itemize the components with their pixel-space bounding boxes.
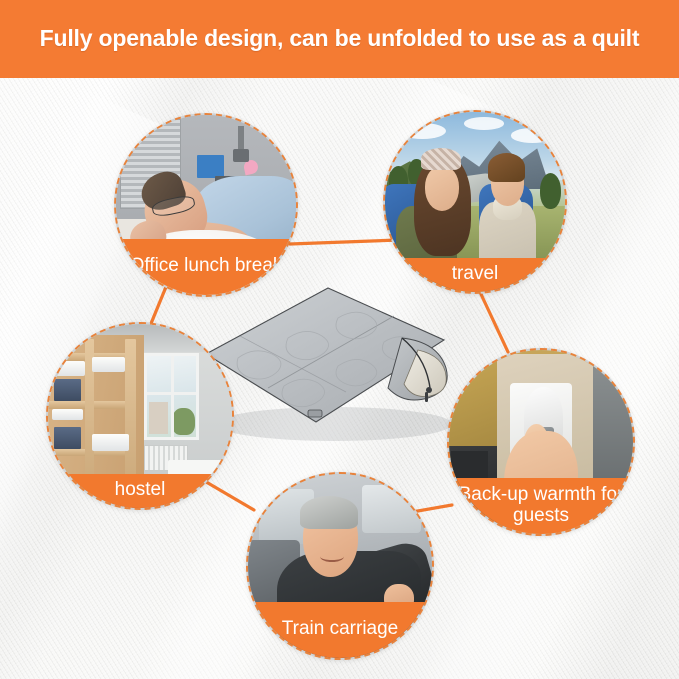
circle-label-travel: travel [385, 258, 565, 292]
circle-label-backup-text: Back-up warmth for guests [449, 484, 633, 527]
circle-label-train: Train carriage [248, 602, 432, 658]
circle-label-hostel: hostel [48, 474, 232, 508]
sleeping-bag-product-image [196, 276, 470, 448]
circle-label-hostel-text: hostel [115, 479, 166, 500]
circle-label-office-text: Office lunch break [130, 255, 283, 276]
infographic-page: Fully openable design, can be unfolded t… [0, 0, 679, 679]
photo-circle-travel[interactable]: travel [383, 110, 567, 294]
photo-circle-backup-warmth[interactable]: Back-up warmth for guests [447, 348, 635, 536]
photo-circle-hostel[interactable]: hostel [46, 322, 234, 510]
corner-tab [308, 410, 322, 417]
circle-label-office: Office lunch break [116, 239, 296, 295]
page-title: Fully openable design, can be unfolded t… [14, 25, 666, 52]
circle-label-backup: Back-up warmth for guests [449, 478, 633, 534]
circle-label-travel-text: travel [452, 263, 498, 284]
photo-circle-train-carriage[interactable]: Train carriage [246, 472, 434, 660]
zipper-tab [425, 392, 428, 402]
product-shadow [216, 407, 452, 441]
circle-label-train-text: Train carriage [282, 618, 399, 639]
photo-circle-office-lunch-break[interactable]: Office lunch break [114, 113, 298, 297]
header-banner: Fully openable design, can be unfolded t… [0, 0, 679, 78]
